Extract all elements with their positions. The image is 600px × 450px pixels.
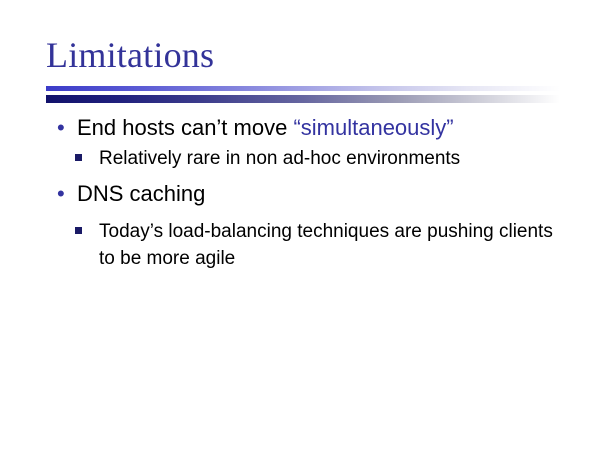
title-divider-top-bar	[46, 86, 560, 91]
sub-bullet-item-2-1-text: Today’s load-balancing techniques are pu…	[99, 221, 553, 269]
bullet-item-1-lead-text: End hosts can’t move	[77, 115, 293, 140]
slide-body: •End hosts can’t move “simultaneously” R…	[0, 113, 600, 274]
sub-bullet-item-1-1-text: Relatively rare in non ad-hoc environmen…	[99, 148, 460, 169]
slide: Limitations •End hosts can’t move “simul…	[0, 0, 600, 450]
bullet-item-2: •DNS caching	[0, 179, 600, 209]
bullet-dot-icon: •	[57, 179, 65, 209]
sub-bullet-item-1-1: Relatively rare in non ad-hoc environmen…	[0, 145, 600, 172]
page-title: Limitations	[46, 33, 214, 77]
sub-bullet-square-icon	[75, 227, 82, 234]
bullet-item-2-lead-text: DNS caching	[77, 181, 205, 206]
title-divider-bottom-bar	[46, 95, 560, 103]
sub-bullet-square-icon	[75, 154, 82, 161]
bullet-dot-icon: •	[57, 113, 65, 143]
bullet-item-1-accent-text: “simultaneously”	[293, 115, 453, 140]
bullet-item-1: •End hosts can’t move “simultaneously”	[0, 113, 600, 143]
sub-bullet-item-2-1: Today’s load-balancing techniques are pu…	[0, 218, 600, 272]
